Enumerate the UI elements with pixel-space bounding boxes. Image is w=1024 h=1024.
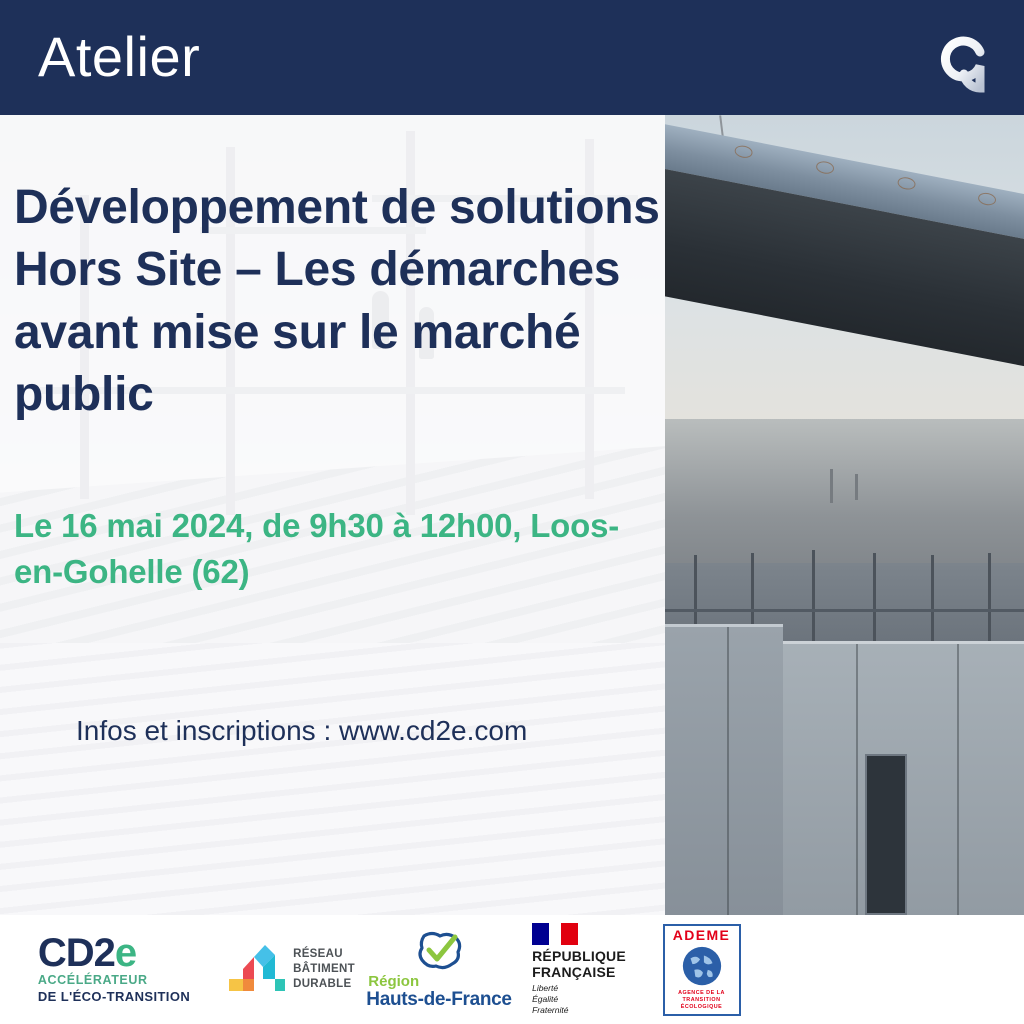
text-panel: Développement de solutions Hors Site – L… [0,115,665,915]
rbd-line-2: BÂTIMENT [293,962,355,977]
rf-line-2: FRANÇAISE [532,965,626,981]
cd2e-tagline-line-1: ACCÉLÉRATEUR [38,972,190,989]
rhdf-line-1: Région [366,974,511,991]
logo-cd2e: CD2e ACCÉLÉRATEUR DE L'ÉCO-TRANSITION [0,915,214,1024]
rf-motto-2: Égalité [532,994,626,1005]
text-content: Développement de solutions Hors Site – L… [14,115,664,748]
logo-republique-francaise: RÉPUBLIQUE FRANÇAISE Liberté Égalité Fra… [514,915,644,1024]
cd2e-tagline-line-2: DE L'ÉCO-TRANSITION [38,989,190,1005]
ademe-tagline-3: ÉCOLOGIQUE [678,1004,725,1011]
french-flag-icon [532,923,578,945]
partner-logo-bar: CD2e ACCÉLÉRATEUR DE L'ÉCO-TRANSITION RÉ… [0,915,1024,1024]
poster-header: Atelier [0,0,1024,115]
cd2e-accent-letter: e [115,934,136,972]
ademe-tagline-1: AGENCE DE LA [678,990,725,997]
registration-info[interactable]: Infos et inscriptions : www.cd2e.com [14,596,664,748]
cd2e-wordmark: CD2 [38,934,115,972]
rf-motto-1: Liberté [532,983,626,994]
house-roof-icon [223,939,289,1001]
event-date-location: Le 16 mai 2024, de 9h30 à 12h00, Loos-en… [14,427,664,597]
ademe-wordmark: ADEME [673,928,731,942]
logo-region-hauts-de-france: Région Hauts-de-France [364,915,514,1024]
rf-line-1: RÉPUBLIQUE [532,949,626,965]
cd2e-e-logo-icon [934,22,996,94]
rhdf-line-2: Hauts-de-France [366,990,511,1011]
header-title: Atelier [38,28,200,84]
rf-motto-3: Fraternité [532,1005,626,1016]
rbd-line-1: RÉSEAU [293,947,355,962]
modular-building [665,627,1024,915]
logo-reseau-batiment-durable: RÉSEAU BÂTIMENT DURABLE [214,915,364,1024]
poster-body: Développement de solutions Hors Site – L… [0,115,1024,915]
globe-icon [680,945,724,987]
logo-ademe: ADEME AGENCE DE LA TRANSITION ÉCOLOGIQUE [644,915,759,1024]
page-title: Développement de solutions Hors Site – L… [14,115,664,427]
event-poster: Atelier [0,0,1024,1024]
construction-site-photo [665,115,1024,915]
rbd-line-3: DURABLE [293,977,355,992]
france-map-check-icon [410,928,468,974]
